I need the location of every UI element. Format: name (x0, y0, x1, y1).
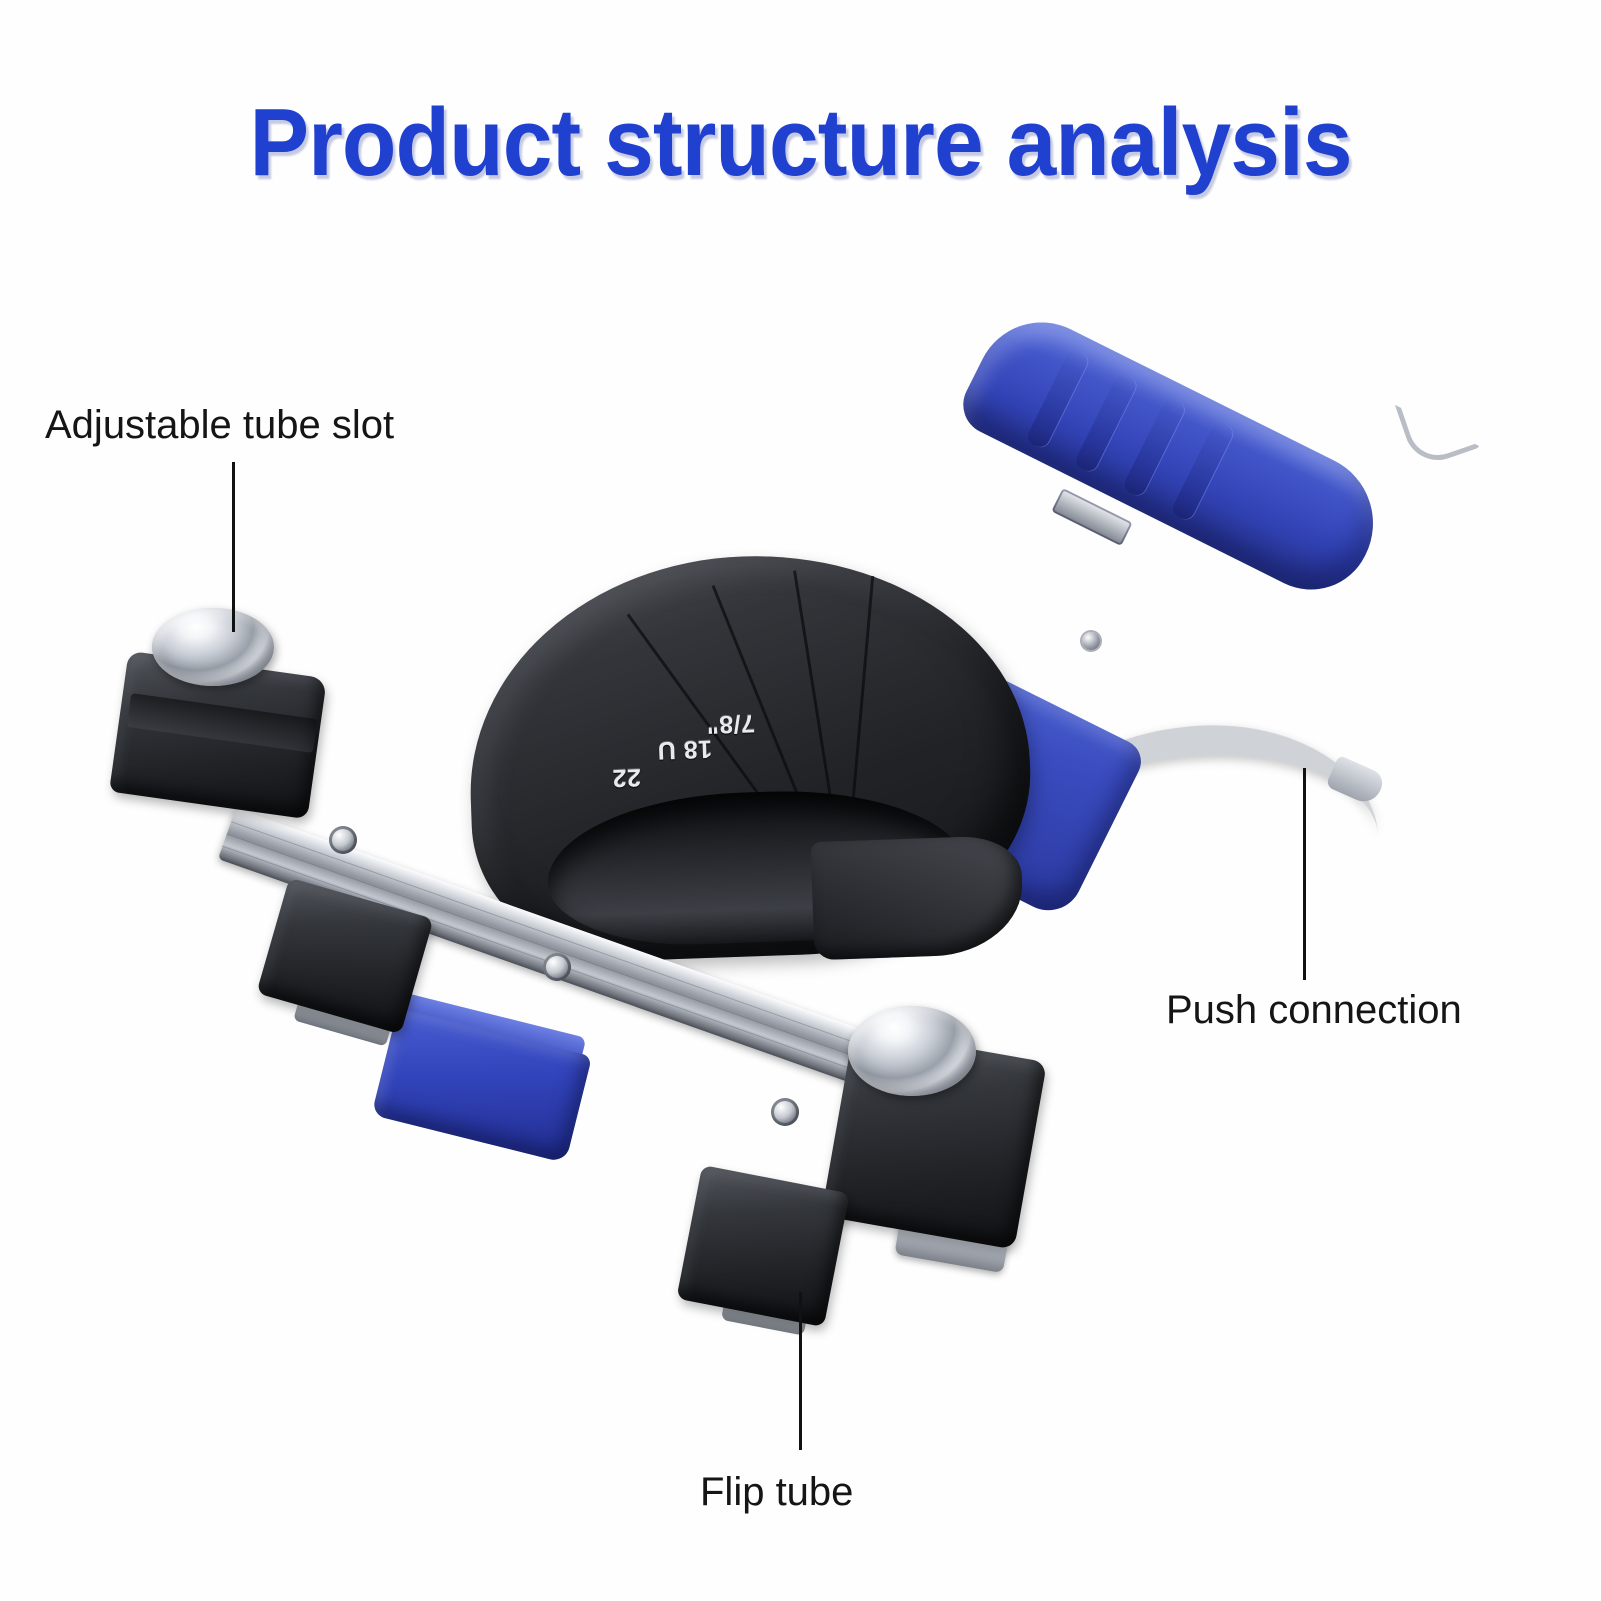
size-marking-18u: 18 U (657, 734, 713, 765)
leader-line-flip-tube (799, 1292, 802, 1450)
chrome-knob-adjustable-slot (152, 608, 274, 686)
leader-line-push-connection (1303, 768, 1306, 980)
callout-label-adjustable-tube-slot: Adjustable tube slot (45, 403, 394, 448)
chrome-knob-flip-tube (848, 1006, 976, 1096)
rail-bolt (771, 1098, 799, 1126)
grip-ridge (1025, 347, 1091, 450)
wire-clip (1395, 383, 1481, 469)
rail-bolt (543, 953, 571, 981)
shoe-lip (811, 835, 1025, 960)
grip-ridge (1073, 371, 1139, 474)
grip-ridge (1121, 396, 1187, 499)
grip-ridge (1170, 420, 1236, 523)
callout-label-push-connection: Push connection (1166, 988, 1462, 1033)
size-marking-22: 22 (612, 762, 642, 792)
leader-line-adjustable-tube-slot (232, 462, 235, 632)
callout-label-flip-tube: Flip tube (700, 1470, 853, 1515)
illustration-canvas: Product structure analysis (0, 0, 1601, 1601)
clamp-block-flip-tube (676, 1165, 849, 1327)
size-marking-7-8: 7/8" (706, 708, 756, 739)
rail-bolt (329, 826, 357, 854)
rivet (1082, 632, 1100, 650)
